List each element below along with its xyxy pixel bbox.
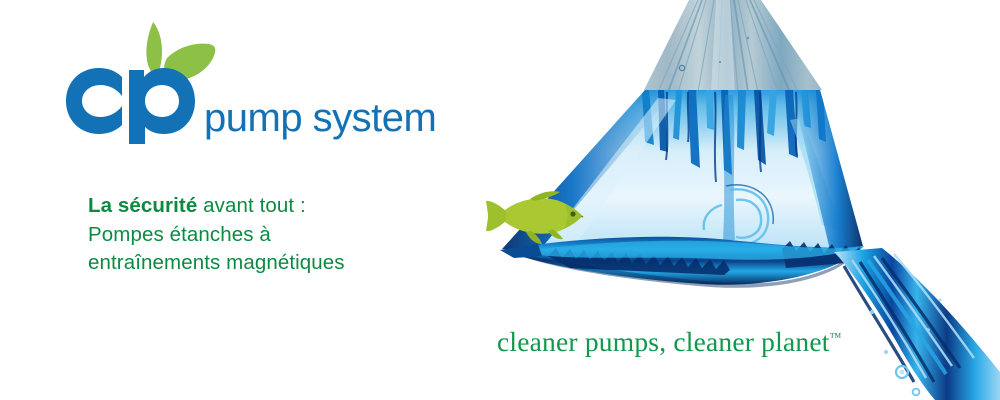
marketing-banner: pump systems La sécurité avant tout : Po… bbox=[0, 0, 1000, 400]
pouring-water-stream bbox=[834, 248, 1000, 400]
logo-wordmark-text: pump systems bbox=[204, 96, 436, 140]
headline-line-1: La sécurité avant tout : bbox=[88, 192, 448, 221]
logo-svg: pump systems bbox=[36, 14, 436, 144]
headline-block: La sécurité avant tout : Pompes étanches… bbox=[88, 192, 448, 278]
cp-mark bbox=[66, 68, 195, 144]
headline-line-1-rest: avant tout : bbox=[197, 194, 305, 217]
plastic-bag-top bbox=[630, 0, 840, 100]
left-content-panel: pump systems La sécurité avant tout : Po… bbox=[0, 0, 470, 400]
headline-line-2: Pompes étanches à bbox=[88, 221, 448, 250]
trademark-symbol: ™ bbox=[830, 330, 842, 344]
slogan-text: cleaner pumps, cleaner planet bbox=[497, 326, 830, 357]
headline-strong: La sécurité bbox=[88, 194, 197, 217]
brand-logo[interactable]: pump systems bbox=[36, 14, 436, 144]
slogan: cleaner pumps, cleaner planet™ bbox=[497, 326, 841, 358]
headline-line-3: entraînements magnétiques bbox=[88, 249, 448, 278]
